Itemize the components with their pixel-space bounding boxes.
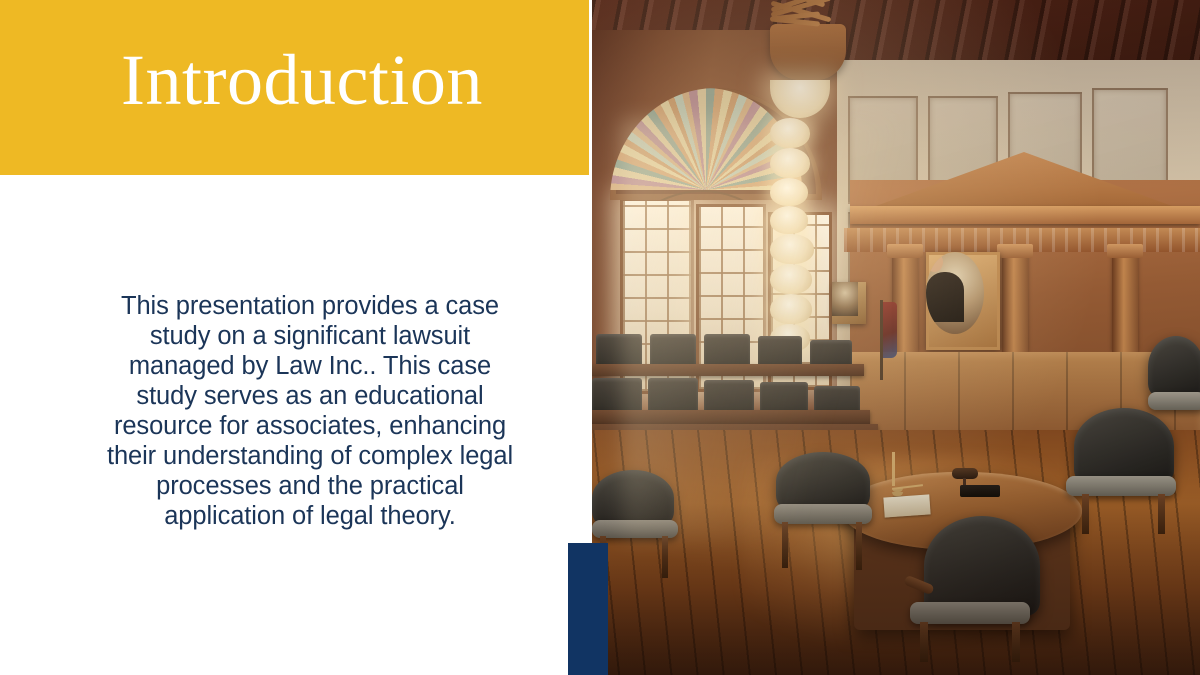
wall-portrait-canvas [832,282,858,316]
accent-block [568,543,608,675]
chandelier-globe [770,264,812,294]
chair-leg [1158,494,1165,534]
chandelier-globe [770,294,812,324]
arch-ring [610,190,794,200]
bench-seat [650,334,696,364]
chair-seat [1148,392,1200,410]
column-capital [887,244,923,258]
bench-rail [592,410,870,424]
leather-armchair [592,470,702,590]
chair-back [592,470,674,526]
courtroom-photo [592,0,1200,675]
chandelier-globe [770,234,814,264]
chandelier-globe [770,118,810,148]
chair-back [924,516,1040,616]
column-capital [997,244,1033,258]
portrait-robe [926,272,964,322]
chandelier-body [770,24,846,80]
pediment-frieze [850,206,1200,224]
scales-of-justice [892,452,926,492]
portrait-oval [926,252,984,334]
chandelier [770,0,1002,124]
law-book [960,485,1000,497]
chair-leg [1012,622,1020,662]
chair-back [1148,336,1200,398]
chair-seat [1066,476,1176,496]
chair-leg [782,522,788,568]
chair-seat [774,504,872,524]
document-paper [883,494,930,517]
chair-leg [856,522,862,570]
bench-seat [704,380,754,412]
left-content-panel: Introduction This presentation provides … [0,0,589,675]
leather-armchair [768,452,888,582]
chair-leg [662,536,668,578]
bench-seat [758,336,802,366]
chandelier-globe [770,178,808,206]
chandelier-bowl [770,80,830,118]
leather-armchair [1148,336,1200,446]
bench-seat [648,378,698,410]
bench-column [1112,252,1138,352]
chair-back [776,452,870,510]
scales-beam [892,484,923,490]
judge-portrait [926,252,1000,350]
bench-rail [592,364,864,376]
american-flag [883,302,897,358]
bench-seat [592,378,642,410]
chair-seat [910,602,1030,624]
slide-body-text: This presentation provides a case study … [100,291,520,531]
chair-leg [1082,494,1089,534]
page-title: Introduction [121,44,483,116]
presentation-slide: Introduction This presentation provides … [0,0,1200,675]
leather-armchair [902,516,1052,666]
portrait-head [926,252,943,272]
scales-post [892,452,895,486]
column-capital [1107,244,1143,258]
chair-leg [920,622,928,662]
chandelier-globe [770,206,808,234]
bench-column [1002,252,1028,352]
wall-portrait-small [832,282,866,324]
bench-seat [596,334,642,364]
chandelier-globe [770,148,810,178]
bench-seat [704,334,750,364]
